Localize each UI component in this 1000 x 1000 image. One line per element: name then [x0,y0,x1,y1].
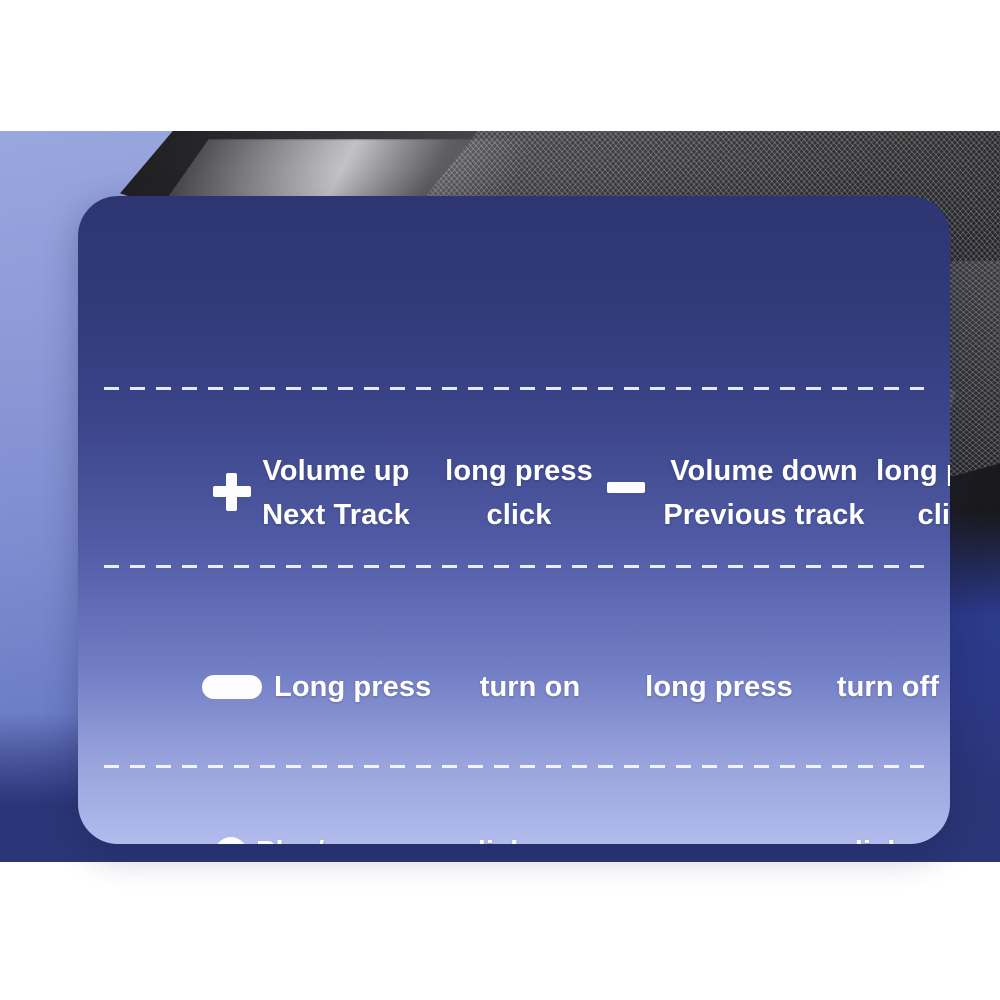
volume-down-label-line-1: Volume down [658,449,870,493]
divider-row-2 [104,565,924,568]
divider-row-3 [104,765,924,768]
power-off-action: turn off [820,665,950,709]
volume-up-label-line-1: Volume up [240,449,432,493]
volume-up-action-line-1: long press [444,449,594,493]
volume-down-action-line-1: long press [876,449,950,493]
power-label: Long press [274,665,442,709]
power-off-label-line-1: long press [634,665,804,709]
power-off-label: long press [634,665,804,709]
power-off-action-line-1: turn off [820,665,950,709]
volume-down-action-line-2: click [876,493,950,537]
call-label: answer reject [650,830,796,844]
volume-up-action-line-2: click [444,493,594,537]
circle-button-icon [215,837,247,844]
minus-icon [607,482,645,493]
power-on-action: turn on [456,665,604,709]
power-label-line-1: Long press [274,665,442,709]
instruction-rows: Volume up Next Track long press click Vo… [78,196,950,844]
control-instructions-card: Volume up Next Track long press click Vo… [78,196,950,844]
volume-down-action: long press click [876,449,950,537]
volume-up-label: Volume up Next Track [240,449,432,537]
play-pause-label-line-1: Play/pause [256,830,434,844]
play-pause-action: click [446,830,542,844]
volume-up-label-line-2: Next Track [240,493,432,537]
power-on-action-line-1: turn on [456,665,604,709]
pill-button-icon [202,675,262,699]
volume-down-label-line-2: Previous track [658,493,870,537]
play-pause-action-line-1: click [446,830,542,844]
volume-down-label: Volume down Previous track [658,449,870,537]
call-action: click long press [790,830,950,844]
call-action-line-1: click [790,830,950,844]
screenshot-root: Volume up Next Track long press click Vo… [0,0,1000,1000]
divider-row-1 [104,387,924,390]
play-pause-label: Play/pause [256,830,434,844]
volume-up-action: long press click [444,449,594,537]
call-label-line-1: answer [650,830,796,844]
